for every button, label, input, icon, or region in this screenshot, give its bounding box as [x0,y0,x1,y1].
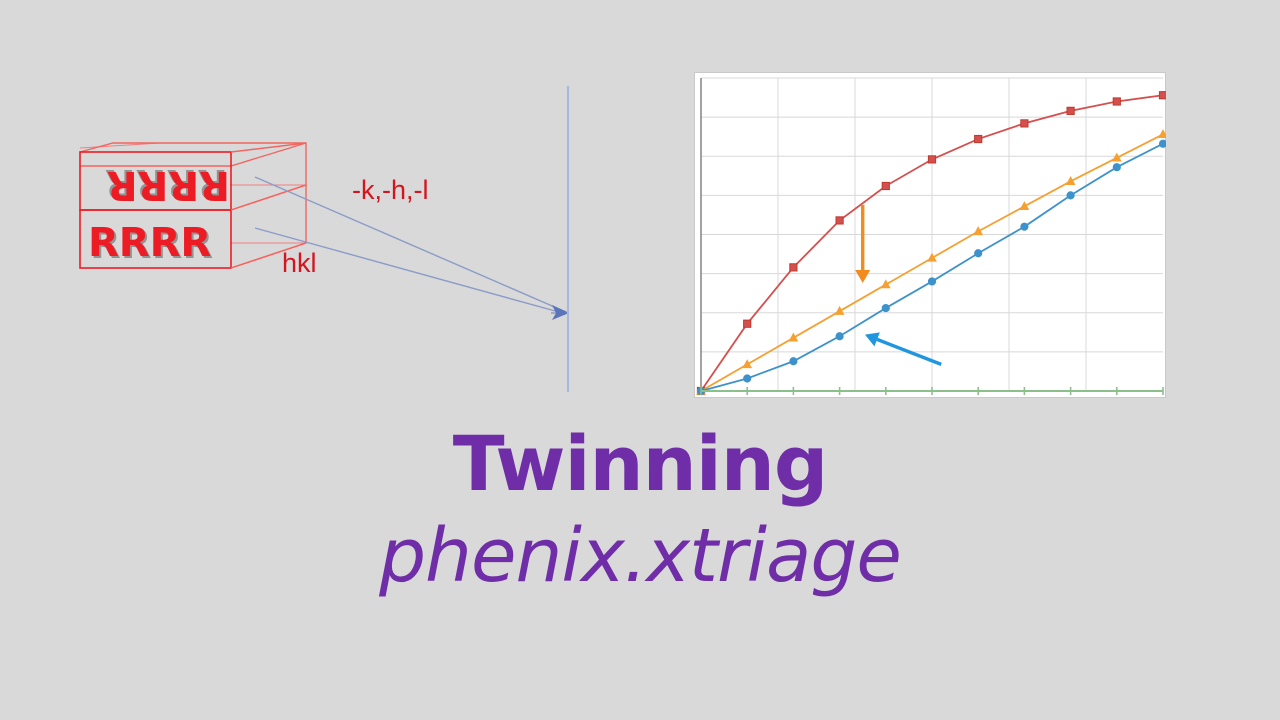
series-marker-untwinned [928,156,935,163]
orange-down-arrow [855,205,870,283]
series-marker-untwinned [1113,98,1120,105]
label-hkl: hkl [282,248,317,279]
series-marker-observed [836,333,843,340]
page-title: Twinning [0,424,1280,504]
slide-root: RRRR RRRR -k,-h,-l hkl Twinning phenix.x… [0,0,1280,720]
chart-vector-layer [694,72,1166,398]
lattice-row-flipped: RRRR [88,162,230,208]
series-marker-observed [790,358,797,365]
series-marker-untwinned [836,217,843,224]
series-marker-untwinned [882,182,889,189]
series-marker-observed [882,304,889,311]
series-marker-untwinned [790,264,797,271]
page-subtitle: phenix.xtriage [0,514,1280,599]
series-marker-observed [744,375,751,382]
blue-pointer-arrow [865,332,941,364]
series-marker-untwinned [744,320,751,327]
orange-down-arrow-head [855,270,870,283]
twin-lattice-diagram: RRRR RRRR -k,-h,-l hkl [0,0,600,410]
series-marker-untwinned [975,135,982,142]
series-marker-perfect-twin [882,280,890,287]
chart-gridlines [701,78,1163,391]
series-marker-perfect-twin [1159,130,1166,137]
series-marker-observed [1021,223,1028,230]
series-marker-untwinned [1021,120,1028,127]
series-marker-observed [1113,164,1120,171]
series-marker-observed [975,250,982,257]
label-minus-k-minus-h-minus-l: -k,-h,-l [352,175,429,206]
series-marker-perfect-twin [743,360,751,367]
series-marker-observed [1159,140,1166,147]
title-block: Twinning phenix.xtriage [0,424,1280,599]
lattice-row-normal: RRRR [88,220,230,266]
series-marker-perfect-twin [928,254,936,261]
series-marker-untwinned [1067,107,1074,114]
chart-series-baseline [701,387,1163,395]
series-marker-untwinned [1159,92,1166,99]
series-marker-perfect-twin [836,307,844,314]
cumulative-intensity-chart [694,72,1166,398]
series-marker-perfect-twin [789,334,797,341]
series-marker-observed [1067,192,1074,199]
series-marker-observed [928,278,935,285]
